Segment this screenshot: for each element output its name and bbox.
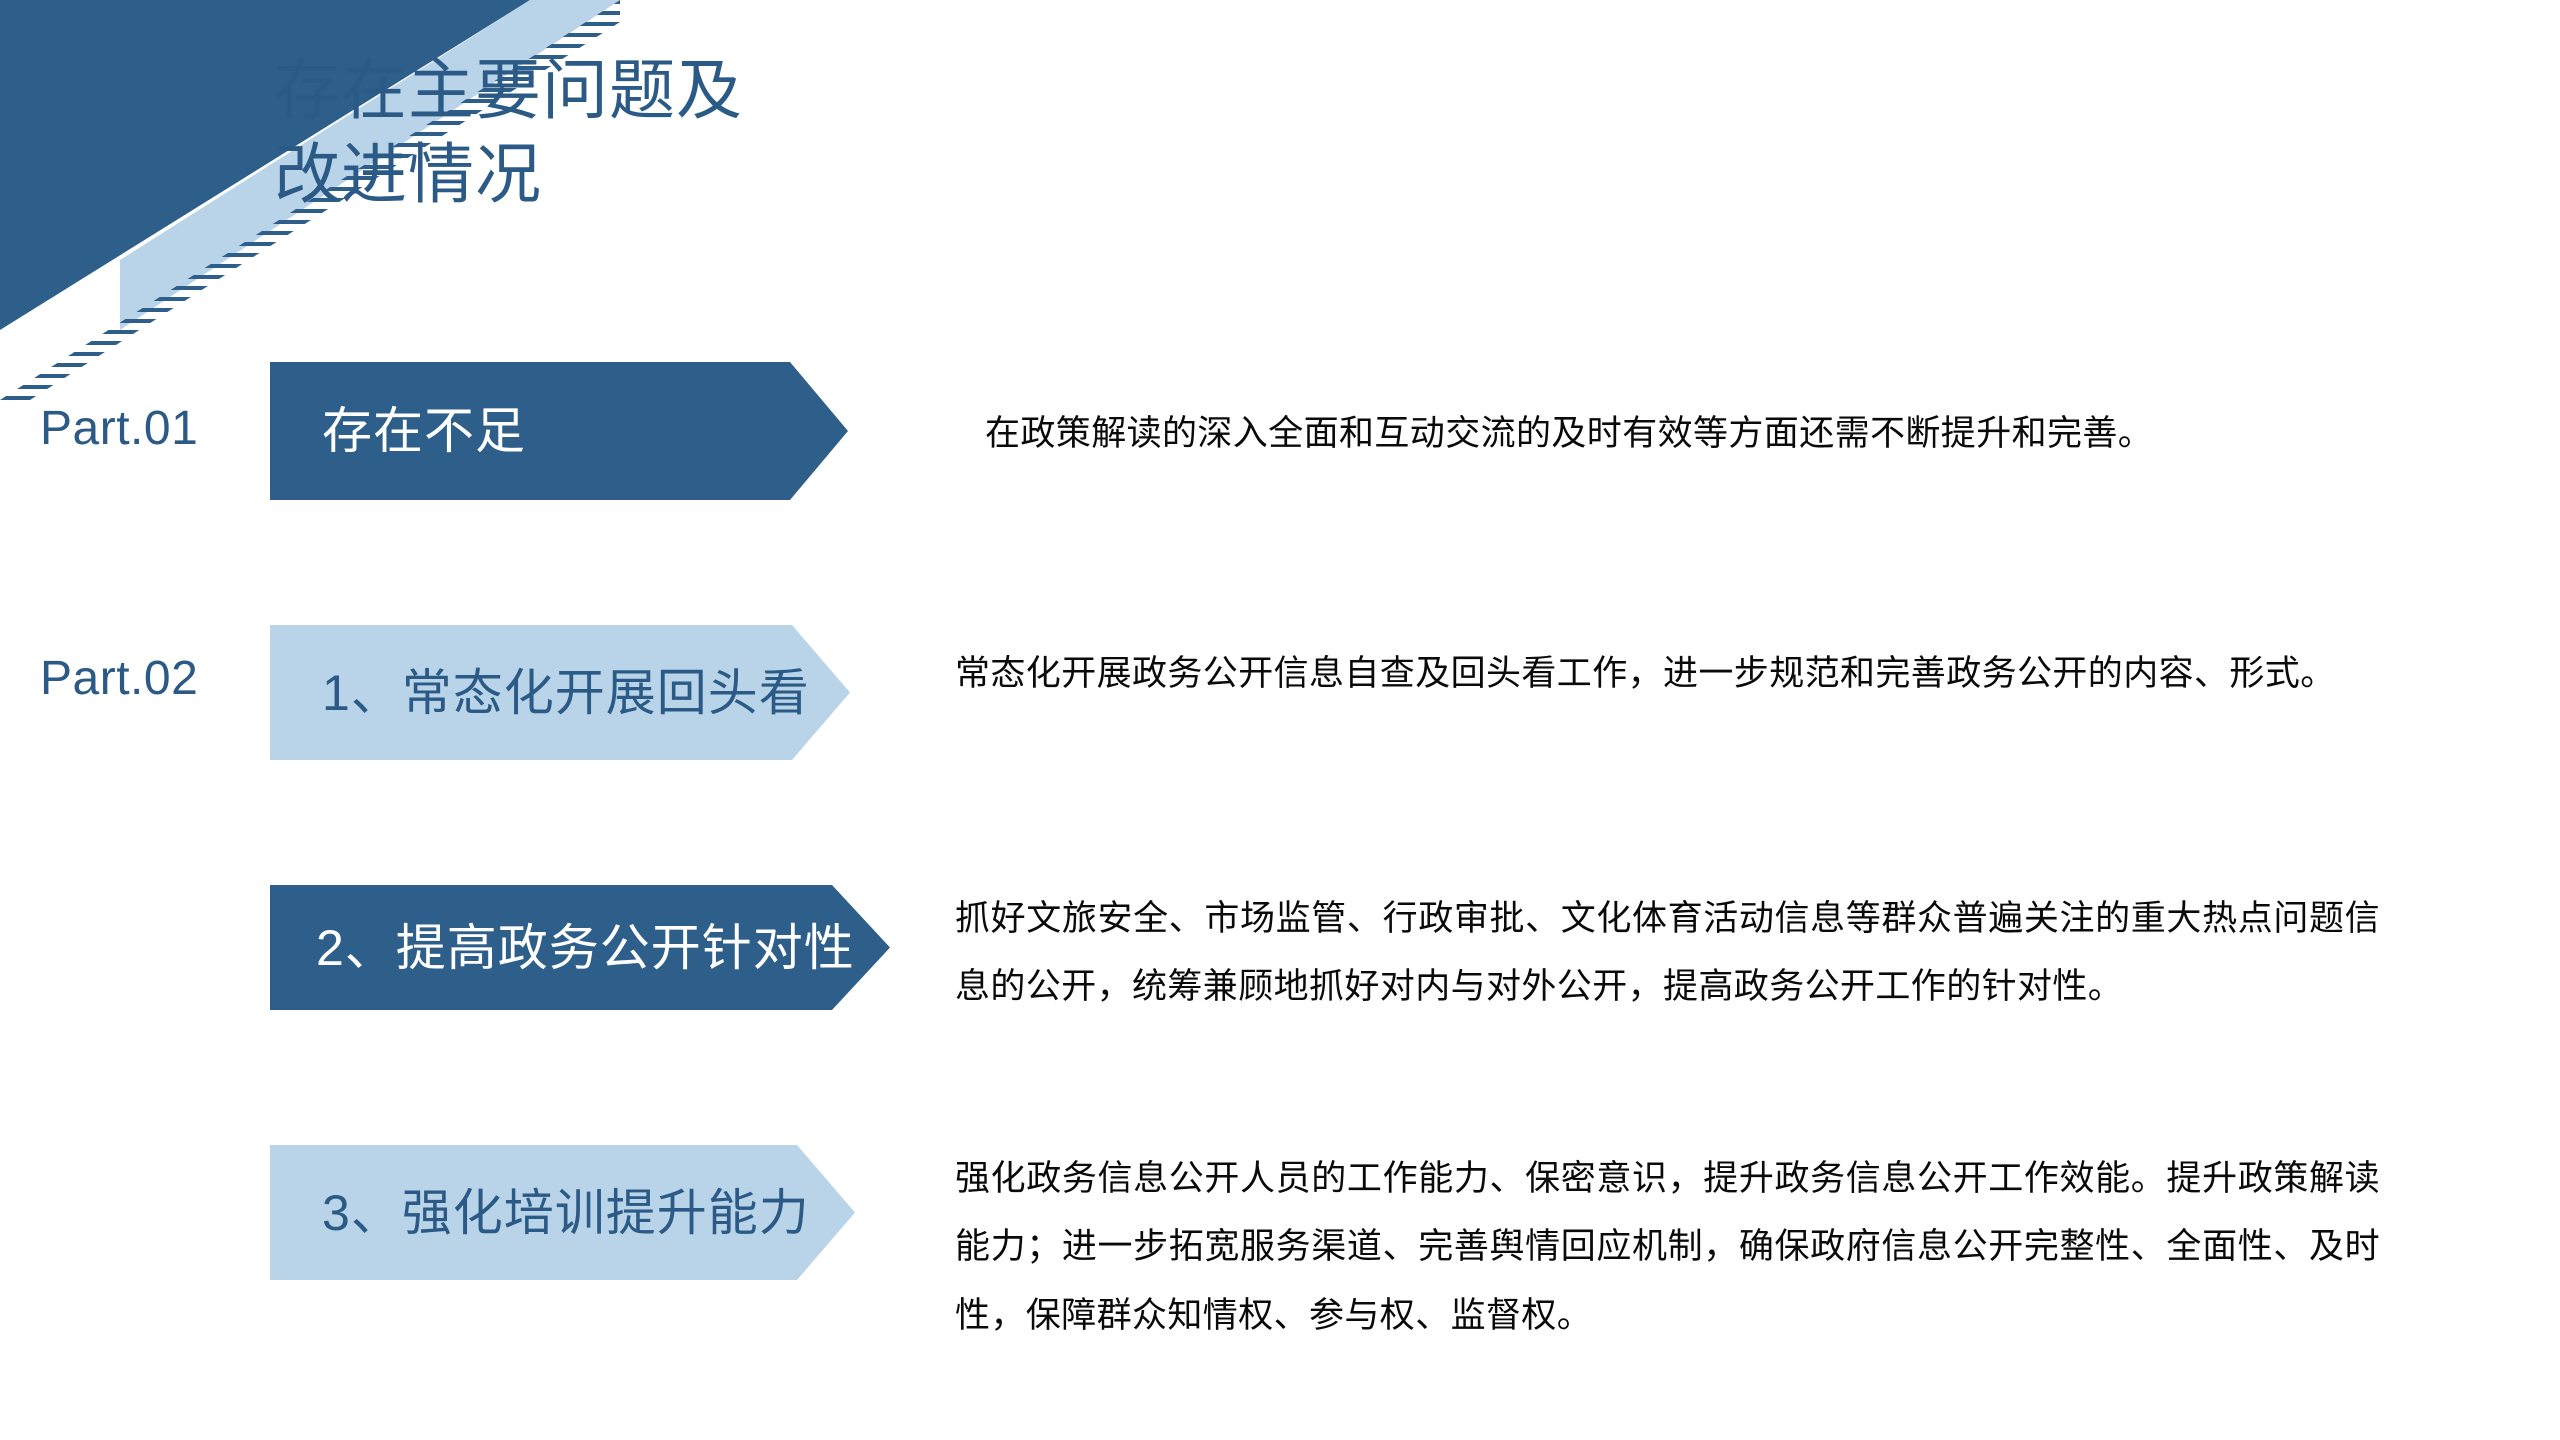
part-label-02: Part.02	[40, 655, 198, 703]
banner-arrow-4[interactable]: 3、强化培训提升能力	[270, 1145, 855, 1280]
body-text-1: 在政策解读的深入全面和互动交流的及时有效等方面还需不断提升和完善。	[985, 400, 2385, 468]
slide-canvas: 存在主要问题及 改进情况 Part.01 存在不足 在政策解读的深入全面和互动交…	[0, 0, 2560, 1440]
banner-arrow-4-label: 3、强化培训提升能力	[270, 1188, 810, 1238]
banner-arrow-1[interactable]: 存在不足	[270, 362, 848, 500]
part-label-01: Part.01	[40, 405, 198, 453]
banner-arrow-2-label: 1、常态化开展回头看	[270, 668, 810, 718]
body-text-3: 抓好文旅安全、市场监管、行政审批、文化体育活动信息等群众普遍关注的重大热点问题信…	[955, 885, 2380, 1022]
body-text-4: 强化政务信息公开人员的工作能力、保密意识，提升政务信息公开工作效能。提升政策解读…	[955, 1145, 2380, 1350]
page-title-line-2: 改进情况	[274, 132, 743, 216]
body-text-2: 常态化开展政务公开信息自查及回头看工作，进一步规范和完善政务公开的内容、形式。	[955, 640, 2375, 708]
page-title-line-1: 存在主要问题及	[274, 48, 743, 132]
banner-arrow-3-label: 2、提高政务公开针对性	[270, 923, 855, 973]
page-title: 存在主要问题及 改进情况	[274, 48, 743, 217]
banner-arrow-2[interactable]: 1、常态化开展回头看	[270, 625, 850, 760]
banner-arrow-1-label: 存在不足	[270, 406, 526, 456]
banner-arrow-3[interactable]: 2、提高政务公开针对性	[270, 885, 890, 1010]
